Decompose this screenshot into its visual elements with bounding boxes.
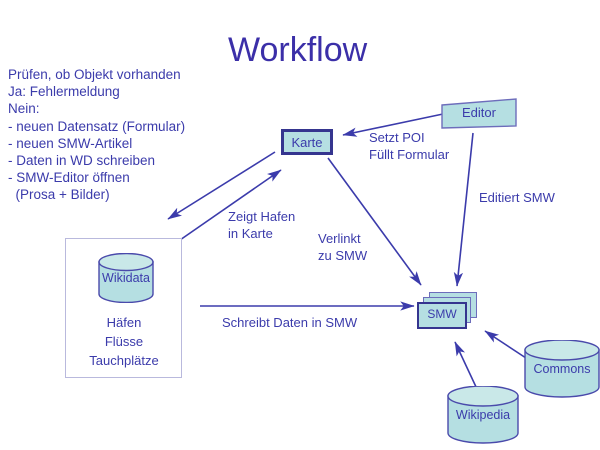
page-title: Workflow: [228, 30, 367, 70]
node-editor[interactable]: Editor: [440, 98, 518, 130]
cylinder-wikidata-label: Wikidata: [98, 271, 154, 285]
arrow-karte-to-smw: [328, 158, 421, 285]
cylinder-commons[interactable]: Commons: [524, 340, 600, 398]
node-karte-label: Karte: [291, 135, 322, 150]
edge-label-setzt-poi: Setzt POI Füllt Formular: [369, 129, 449, 163]
workflow-notes-text: Prüfen, ob Objekt vorhanden Ja: Fehlerme…: [8, 66, 185, 204]
node-smw[interactable]: SMW: [417, 292, 479, 332]
edge-label-verlinkt-zu-smw: Verlinkt zu SMW: [318, 230, 367, 264]
edge-label-editiert-smw: Editiert SMW: [479, 189, 555, 206]
wikidata-terms: Häfen Flüsse Tauchplätze: [74, 313, 174, 370]
node-smw-label: SMW: [417, 307, 467, 321]
cylinder-wikidata[interactable]: Wikidata: [98, 253, 154, 303]
cylinder-wikipedia[interactable]: Wikipedia: [447, 386, 519, 444]
cylinder-commons-label: Commons: [524, 362, 600, 376]
cylinder-wikipedia-label: Wikipedia: [447, 408, 519, 422]
node-karte[interactable]: Karte: [281, 129, 333, 155]
arrow-editor-to-smw: [457, 133, 473, 286]
arrow-wikipedia-to-smw: [455, 342, 477, 389]
workflow-slide: Workflow Prüfen, ob Objekt vorhanden Ja:…: [0, 0, 600, 450]
edge-label-zeigt-hafen: Zeigt Hafen in Karte: [228, 208, 295, 242]
edge-label-schreibt-daten: Schreibt Daten in SMW: [222, 314, 357, 331]
node-editor-label: Editor: [440, 105, 518, 120]
arrow-commons-to-smw: [485, 331, 529, 360]
